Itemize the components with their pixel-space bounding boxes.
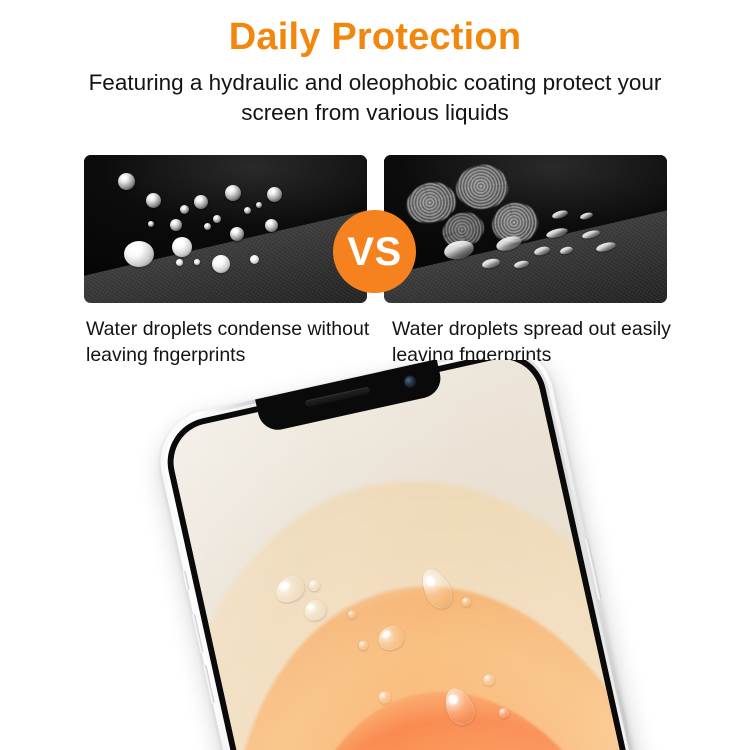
vs-badge: VS (333, 210, 416, 293)
water-bead (256, 202, 262, 208)
comparison-panel-without-coating (384, 155, 667, 303)
water-bead (213, 215, 221, 223)
phone-screen[interactable] (166, 360, 647, 750)
coated-screen-photo (84, 155, 367, 303)
water-bead (267, 187, 282, 202)
uncoated-screen-photo (384, 155, 667, 303)
page-title: Daily Protection (0, 18, 750, 58)
water-bead (146, 193, 161, 208)
water-bead (250, 255, 259, 264)
water-bead (176, 259, 183, 266)
water-bead (265, 219, 278, 232)
water-bead (194, 195, 208, 209)
water-bead (225, 185, 241, 201)
water-bead (212, 255, 230, 273)
comparison-panel-with-coating (84, 155, 367, 303)
water-bead (204, 223, 211, 230)
water-bead (170, 219, 182, 231)
water-bead (124, 241, 154, 267)
front-camera-icon (404, 376, 416, 388)
screen-glass-sheen (166, 360, 647, 750)
water-bead (118, 173, 135, 190)
water-bead (230, 227, 244, 241)
smartphone (151, 360, 663, 750)
water-bead (180, 205, 189, 214)
water-bead (172, 237, 192, 257)
water-bead (148, 221, 154, 227)
vs-badge-label: VS (347, 232, 401, 272)
water-bead (194, 259, 200, 265)
hero-product-image (0, 360, 750, 750)
water-bead (244, 207, 251, 214)
earpiece-speaker-icon (305, 386, 371, 407)
page-subtitle: Featuring a hydraulic and oleophobic coa… (55, 68, 695, 127)
